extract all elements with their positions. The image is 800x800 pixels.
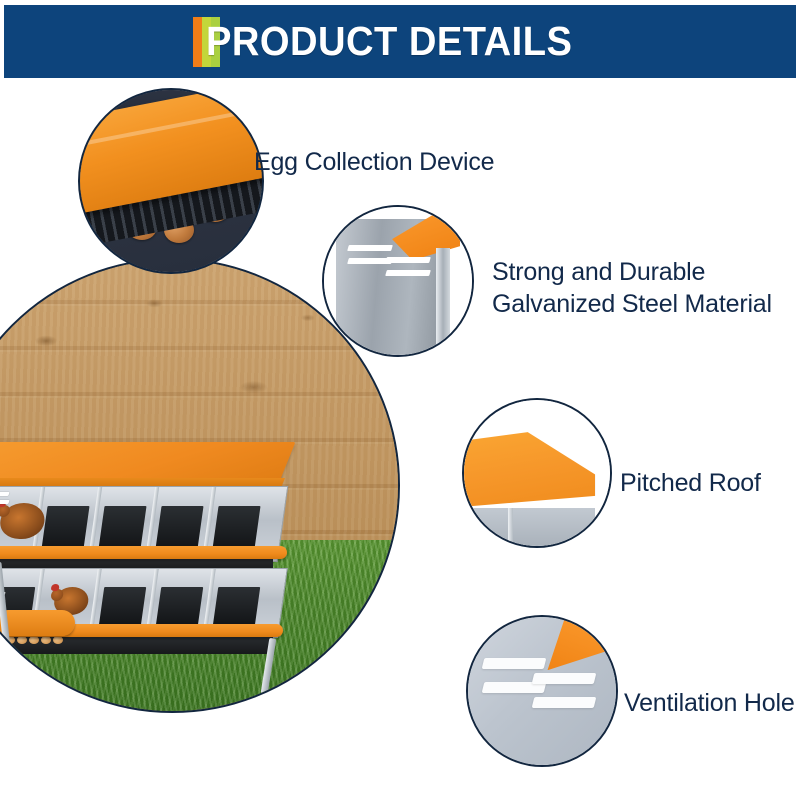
- vent-slot: [532, 673, 597, 684]
- header-banner-inner: PRODUCT DETAILS: [193, 5, 600, 78]
- label-ventilation-hole: Ventilation Hole: [624, 687, 795, 719]
- nesting-cell-opening: [155, 506, 203, 549]
- accent-bar-orange: [193, 17, 202, 67]
- egg-tray-handle: [0, 610, 75, 636]
- pitched-roof-image: [464, 400, 610, 546]
- roof-support-post: [508, 508, 513, 546]
- hen-upper: [0, 503, 47, 539]
- egg-collection-image: [80, 90, 262, 272]
- roof-underside: [462, 508, 595, 546]
- ventilation-hole-image: [468, 617, 616, 765]
- orange-corner-accent: [542, 617, 610, 670]
- vent-slot: [385, 270, 431, 276]
- collected-eggs: [5, 636, 63, 644]
- nesting-cell-opening: [213, 587, 261, 626]
- nesting-cell-opening: [212, 506, 260, 549]
- nesting-cell-opening: [98, 506, 146, 549]
- label-egg-collection-device: Egg Collection Device: [254, 146, 494, 178]
- header-banner: PRODUCT DETAILS: [4, 5, 796, 78]
- label-galvanized-steel: Strong and Durable Galvanized Steel Mate…: [492, 256, 772, 320]
- egg: [29, 636, 39, 644]
- product-details-infographic: PRODUCT DETAILS: [0, 0, 800, 800]
- steel-corner-post: [436, 248, 449, 355]
- page-title: PRODUCT DETAILS: [206, 18, 572, 65]
- callout-galvanized-steel: [322, 205, 474, 357]
- egg: [17, 636, 27, 644]
- nesting-cell-opening: [156, 587, 204, 626]
- nesting-box-product: [0, 442, 329, 692]
- ventilation-hole-side-upper: [0, 492, 9, 504]
- roof-top-panel: [462, 432, 595, 514]
- callout-ventilation-hole: [466, 615, 618, 767]
- vent-slot: [347, 245, 393, 251]
- vent-slot: [385, 257, 431, 263]
- galvanized-steel-image: [324, 207, 472, 355]
- perch-upper: [0, 546, 287, 559]
- egg: [41, 636, 51, 644]
- egg: [53, 636, 63, 644]
- nesting-cell-opening: [41, 506, 89, 549]
- label-pitched-roof: Pitched Roof: [620, 467, 761, 499]
- vent-slot: [481, 658, 546, 669]
- ventilation-slots-right: [386, 257, 430, 283]
- vent-slot: [0, 500, 10, 504]
- callout-pitched-roof: [462, 398, 612, 548]
- vent-slot: [0, 492, 10, 496]
- nesting-cell-opening: [99, 587, 147, 626]
- callout-egg-collection-device: [78, 88, 264, 274]
- vent-slot: [532, 697, 597, 708]
